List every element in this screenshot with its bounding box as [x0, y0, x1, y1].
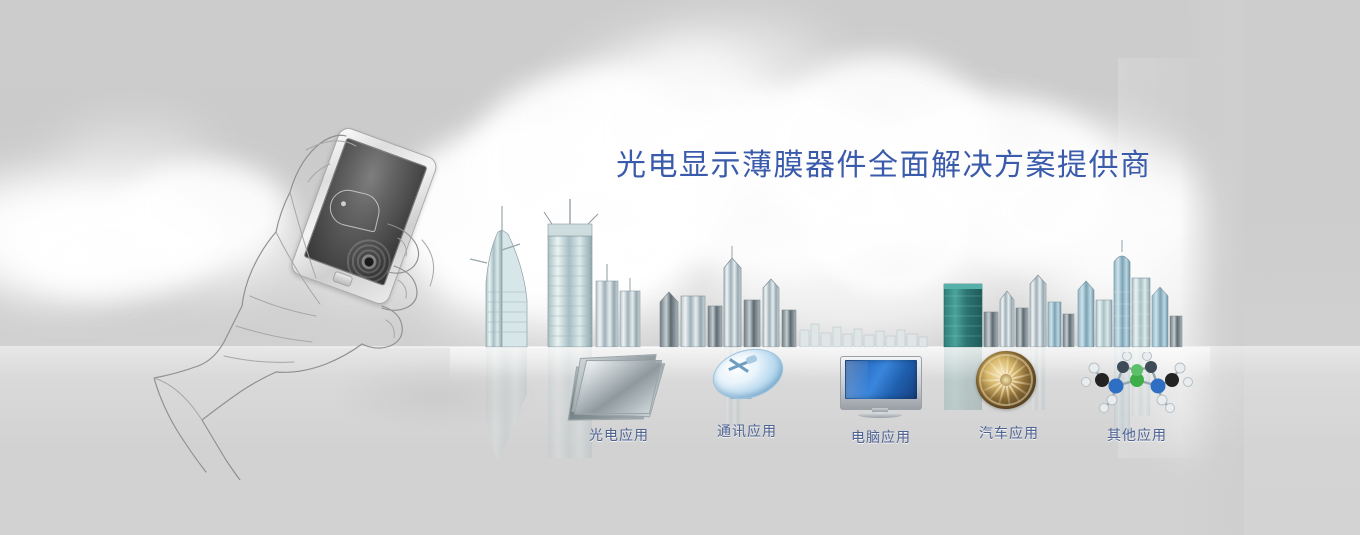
application-label: 光电应用 [560, 425, 678, 445]
application-item-communication[interactable]: 通讯应用 [688, 348, 806, 441]
glass-film-sheets-icon [560, 352, 678, 416]
application-item-other[interactable]: 其他应用 [1078, 352, 1196, 445]
atom-white [1123, 352, 1132, 361]
hand-phone-illustration [140, 120, 480, 480]
page-title: 光电显示薄膜器件全面解决方案提供商 [616, 140, 1152, 184]
atom-blue [1109, 379, 1124, 394]
dish-reflector [707, 341, 789, 407]
application-item-automotive[interactable]: 汽车应用 [950, 350, 1068, 443]
molecule-model-icon [1078, 352, 1196, 416]
car-wheel-rim-icon [950, 350, 1068, 414]
atom-dark [1117, 361, 1129, 373]
atom-dark [1145, 361, 1157, 373]
application-label: 汽车应用 [950, 423, 1068, 443]
molecule-svg [1078, 352, 1196, 416]
application-label: 其他应用 [1078, 425, 1196, 445]
atom-white [1175, 363, 1185, 373]
lcd-monitor-icon [822, 354, 940, 418]
atom-blue [1151, 379, 1166, 394]
application-item-computer[interactable]: 电脑应用 [822, 354, 940, 447]
atom-white [1157, 395, 1167, 405]
atom-white [1143, 352, 1152, 361]
hero-banner: 光电显示薄膜器件全面解决方案提供商 光电应用 通讯应用 [0, 0, 1360, 535]
atom-dark [1095, 373, 1109, 387]
atom-green [1131, 364, 1143, 376]
atom-dark [1165, 373, 1179, 387]
application-label: 电脑应用 [822, 427, 940, 447]
atom-white [1089, 363, 1099, 373]
monitor-stand [858, 412, 902, 418]
monitor-glare [846, 361, 868, 398]
hand-line-art [140, 120, 480, 480]
monitor-bezel [840, 356, 922, 410]
application-item-optoelectronic[interactable]: 光电应用 [560, 352, 678, 445]
application-icon-strip: 光电应用 通讯应用 电脑应用 [560, 352, 1200, 462]
atom-white [1107, 395, 1117, 405]
satellite-dish-icon [688, 348, 806, 412]
atom-white [1082, 378, 1091, 387]
atom-white [1166, 404, 1175, 413]
skyline-buildings [470, 199, 1182, 347]
sheet-layer [574, 360, 662, 414]
application-label: 通讯应用 [688, 421, 806, 441]
wheel-rim [972, 347, 1039, 413]
atom-white [1100, 404, 1109, 413]
atom-white [1184, 378, 1193, 387]
